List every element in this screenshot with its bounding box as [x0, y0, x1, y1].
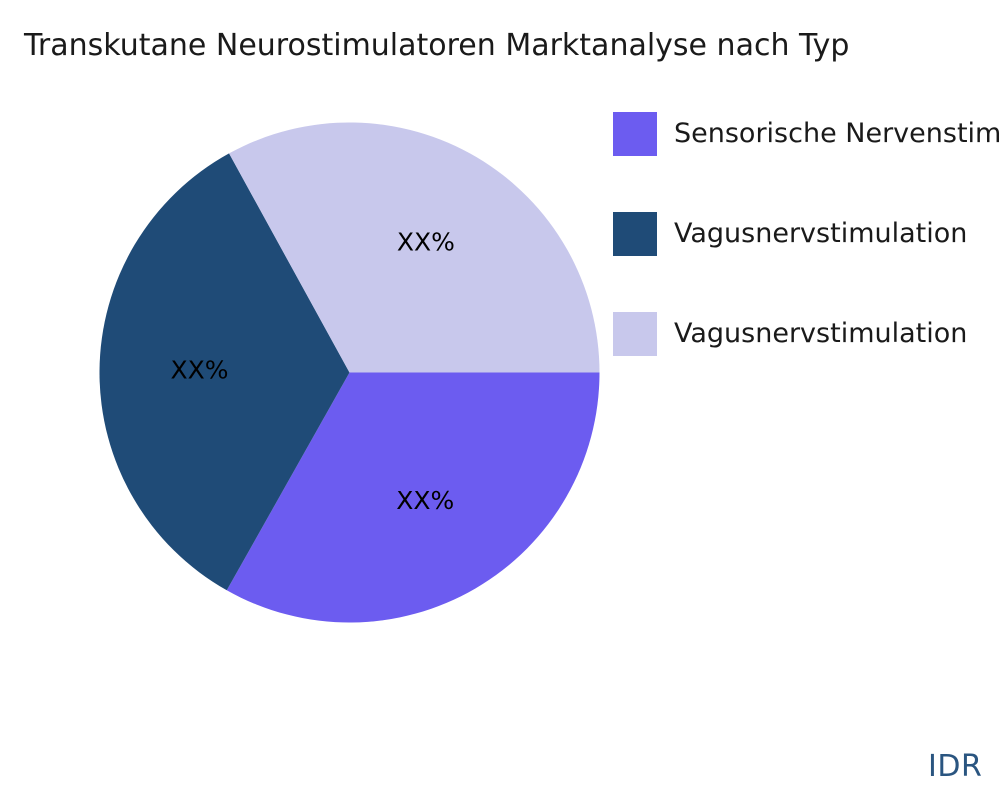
watermark-idr: IDR — [928, 750, 982, 784]
pie-label-vagusnervstimulation-2: XX% — [397, 227, 455, 256]
page-title: Transkutane Neurostimulatoren Marktanaly… — [24, 26, 1000, 66]
pie-chart-svg: XX% XX% XX% — [99, 122, 600, 623]
legend-swatch-vagus-1 — [613, 212, 657, 256]
chart-legend: Sensorische Nervenstimulation Vagusnervs… — [613, 112, 1000, 356]
legend-label-vagusnervstimulation-2: Vagusnervstimulation — [674, 319, 967, 349]
pie-label-sensorische-nervenstimulation: XX% — [396, 486, 454, 515]
pie-label-vagusnervstimulation-1: XX% — [170, 356, 228, 385]
legend-item-vagusnervstimulation-2[interactable]: Vagusnervstimulation — [613, 312, 1000, 356]
legend-swatch-sensorische — [613, 112, 657, 156]
legend-swatch-vagus-2 — [613, 312, 657, 356]
legend-label-vagusnervstimulation-1: Vagusnervstimulation — [674, 219, 967, 249]
pie-chart: XX% XX% XX% — [99, 122, 600, 623]
legend-label-sensorische-nervenstimulation: Sensorische Nervenstimulation — [674, 119, 1000, 149]
legend-item-vagusnervstimulation-1[interactable]: Vagusnervstimulation — [613, 212, 1000, 256]
chart-figure: Transkutane Neurostimulatoren Marktanaly… — [0, 0, 1000, 800]
legend-item-sensorische-nervenstimulation[interactable]: Sensorische Nervenstimulation — [613, 112, 1000, 156]
